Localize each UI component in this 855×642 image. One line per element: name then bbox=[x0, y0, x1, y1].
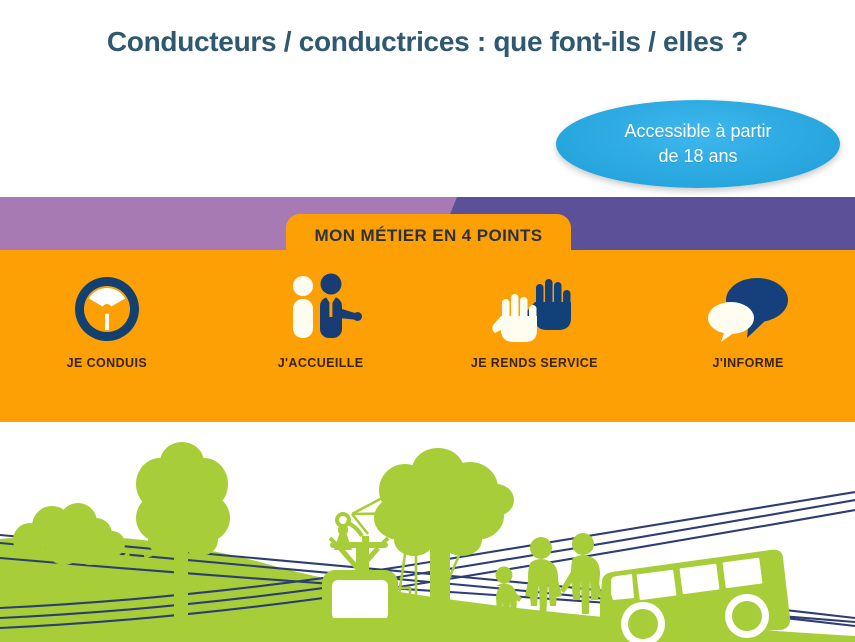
bush bbox=[13, 503, 125, 565]
section-tab: MON MÉTIER EN 4 POINTS bbox=[286, 214, 571, 258]
point-item-jinforme[interactable]: J'INFORME bbox=[641, 272, 855, 382]
illustration-svg bbox=[0, 422, 855, 642]
point-label: JE CONDUIS bbox=[67, 356, 147, 370]
four-points-row: JE CONDUIS J'ACCUEILLE bbox=[0, 272, 855, 382]
two-people-icon bbox=[278, 272, 364, 344]
page-root: Conducteurs / conductrices : que font-il… bbox=[0, 0, 855, 642]
point-item-je-rends-service[interactable]: JE RENDS SERVICE bbox=[428, 272, 642, 382]
steering-wheel-icon bbox=[72, 272, 142, 344]
page-title: Conducteurs / conductrices : que font-il… bbox=[0, 26, 855, 58]
ground-strip bbox=[0, 636, 855, 642]
bus bbox=[600, 550, 790, 642]
bottom-illustration bbox=[0, 422, 855, 642]
family-figures bbox=[496, 533, 603, 624]
accessibility-bubble: Accessible à partir de 18 ans bbox=[556, 100, 840, 188]
point-item-je-conduis[interactable]: JE CONDUIS bbox=[0, 272, 214, 382]
point-label: J'INFORME bbox=[713, 356, 784, 370]
accessibility-bubble-line1: Accessible à partir bbox=[624, 121, 771, 141]
point-label: J'ACCUEILLE bbox=[278, 356, 364, 370]
accessibility-bubble-text: Accessible à partir de 18 ans bbox=[624, 119, 771, 169]
point-item-jaccueille[interactable]: J'ACCUEILLE bbox=[214, 272, 428, 382]
accessibility-bubble-line2: de 18 ans bbox=[658, 146, 737, 166]
speech-bubbles-icon bbox=[705, 272, 791, 344]
section-tab-label: MON MÉTIER EN 4 POINTS bbox=[315, 226, 543, 246]
tram bbox=[318, 538, 402, 634]
two-hands-icon bbox=[492, 272, 576, 344]
header: Conducteurs / conductrices : que font-il… bbox=[0, 0, 855, 96]
point-label: JE RENDS SERVICE bbox=[471, 356, 598, 370]
